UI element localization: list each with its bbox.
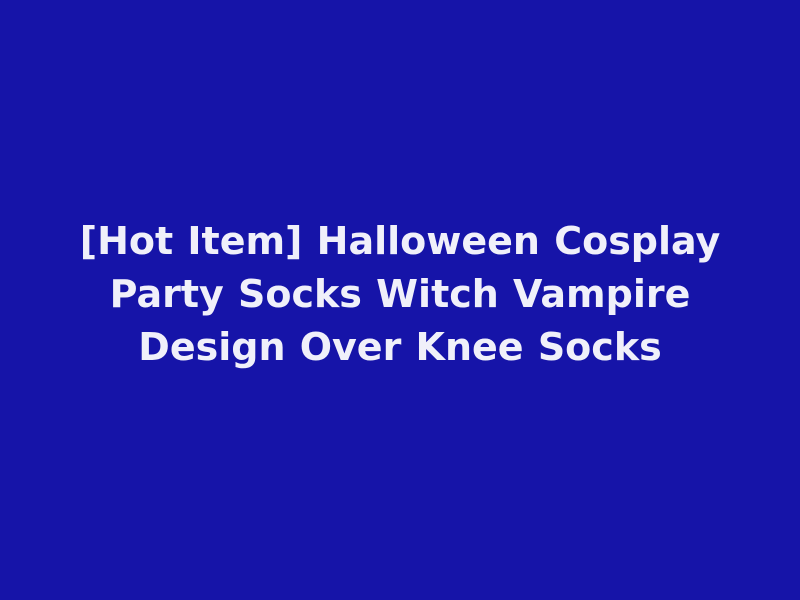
title-block: [Hot Item] Halloween Cosplay Party Socks…	[50, 215, 750, 374]
page-title: [Hot Item] Halloween Cosplay Party Socks…	[50, 215, 750, 374]
title-card-canvas: [Hot Item] Halloween Cosplay Party Socks…	[0, 0, 800, 600]
